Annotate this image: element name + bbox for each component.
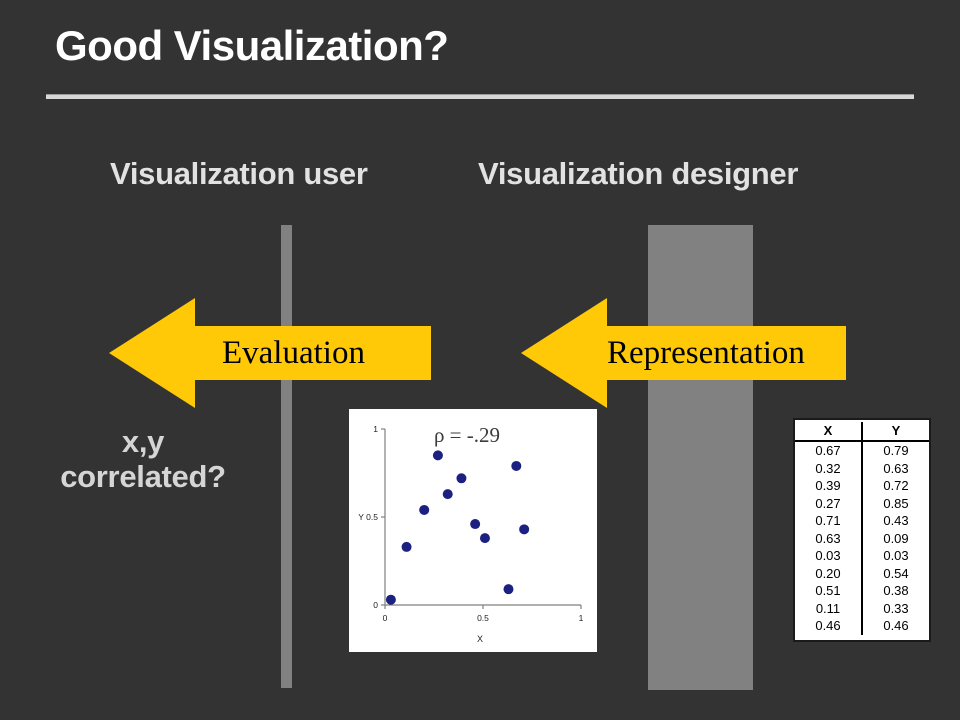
cell-y: 0.33 [862,600,929,618]
scatter-point [480,533,490,543]
y-tick-label: Y 0.5 [358,512,378,522]
cell-x: 0.03 [795,547,862,565]
y-tick-label: 1 [373,424,378,434]
arrow-representation: Representation [521,298,846,408]
scatter-point [402,542,412,552]
cell-x: 0.39 [795,477,862,495]
x-axis-label: X [477,634,483,644]
cell-y: 0.85 [862,495,929,513]
y-tick-label: 0 [373,600,378,610]
cell-x: 0.32 [795,460,862,478]
scatter-plot-svg: 0Y 0.5100.51 ρ = -.29 X [349,409,597,652]
table-row: 0.200.54 [795,565,929,583]
scatter-point [519,524,529,534]
table-row: 0.030.03 [795,547,929,565]
cell-y: 0.79 [862,441,929,460]
cell-x: 0.67 [795,441,862,460]
slide-canvas: Good Visualization? Visualization user V… [0,0,960,720]
cell-y: 0.72 [862,477,929,495]
data-table-panel: X Y 0.670.790.320.630.390.720.270.850.71… [793,418,931,642]
question-line-2: correlated? [60,459,226,494]
x-tick-label: 0 [383,613,388,623]
column-header-y: Y [862,422,929,441]
cell-x: 0.11 [795,600,862,618]
lifeline-bar-user [281,225,292,688]
cell-y: 0.54 [862,565,929,583]
cell-x: 0.51 [795,582,862,600]
scatter-point [386,595,396,605]
table-row: 0.110.33 [795,600,929,618]
cell-x: 0.46 [795,617,862,635]
table-row: 0.320.63 [795,460,929,478]
cell-x: 0.27 [795,495,862,513]
arrow-label-evaluation: Evaluation [222,298,365,408]
scatter-point [511,461,521,471]
scatter-point [503,584,513,594]
correlation-annotation: ρ = -.29 [434,423,500,447]
table-row: 0.630.09 [795,530,929,548]
table-row: 0.270.85 [795,495,929,513]
scatter-point [443,489,453,499]
scatter-point [456,473,466,483]
arrow-label-representation: Representation [607,298,805,408]
page-title: Good Visualization? [55,22,448,70]
question-correlation: x,y correlated? [18,425,268,494]
table-row: 0.510.38 [795,582,929,600]
scatter-points [386,450,529,604]
scatter-point [419,505,429,515]
table-row: 0.390.72 [795,477,929,495]
table-body: 0.670.790.320.630.390.720.270.850.710.43… [795,441,929,635]
scatter-plot: 0Y 0.5100.51 ρ = -.29 X [349,409,597,652]
table-row: 0.670.79 [795,441,929,460]
column-header-x: X [795,422,862,441]
column-heading-user: Visualization user [110,156,368,192]
table-row: 0.710.43 [795,512,929,530]
scatter-point [470,519,480,529]
arrow-evaluation: Evaluation [109,298,431,408]
lifeline-bar-designer [648,225,753,690]
column-heading-designer: Visualization designer [478,156,798,192]
cell-x: 0.20 [795,565,862,583]
data-table: X Y 0.670.790.320.630.390.720.270.850.71… [795,422,929,635]
table-header-row: X Y [795,422,929,441]
cell-y: 0.46 [862,617,929,635]
table-row: 0.460.46 [795,617,929,635]
x-tick-label: 0.5 [477,613,489,623]
cell-y: 0.38 [862,582,929,600]
cell-x: 0.71 [795,512,862,530]
question-line-1: x,y [122,424,164,459]
title-divider [46,94,914,99]
cell-y: 0.03 [862,547,929,565]
x-tick-label: 1 [579,613,584,623]
cell-y: 0.43 [862,512,929,530]
cell-y: 0.09 [862,530,929,548]
cell-y: 0.63 [862,460,929,478]
cell-x: 0.63 [795,530,862,548]
scatter-point [433,450,443,460]
